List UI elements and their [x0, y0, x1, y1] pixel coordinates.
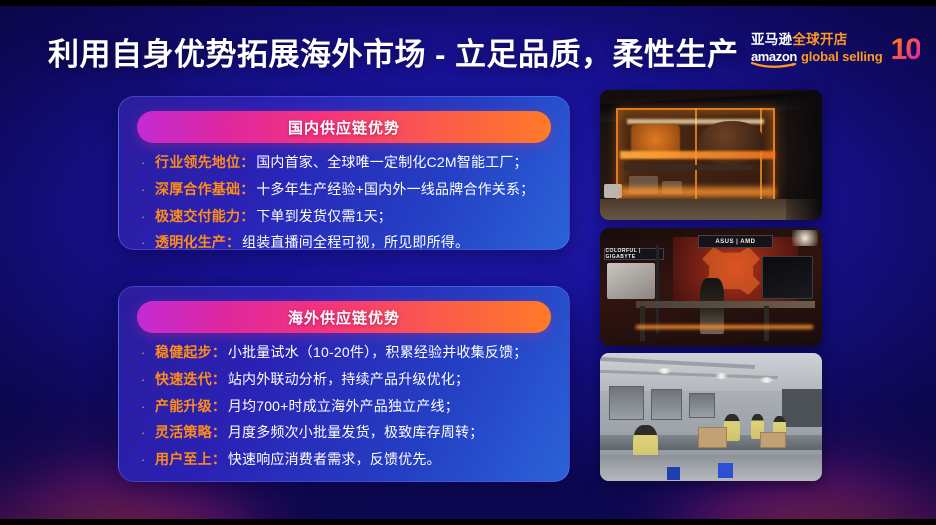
- amazon-smile-icon: [751, 62, 805, 68]
- overseas-supply-chain-card: 海外供应链优势 · 稳健起步 ： 小批量试水（10-20件），积累经验并收集反馈…: [118, 286, 570, 482]
- bullet-colon: ：: [212, 423, 226, 442]
- bullet-colon: ：: [212, 370, 226, 389]
- livestream-studio-photo-content: ASUS | AMD COLORFUL | GIGABYTE: [600, 228, 822, 346]
- bullet-dot-icon: ·: [141, 424, 155, 441]
- bullet-key: 用户至上: [155, 450, 212, 469]
- list-item: · 灵活策略 ： 月度多频次小批量发货，极致库存周转；: [141, 423, 555, 442]
- shelf-rack-shape: [651, 389, 682, 420]
- bullet-value: 组装直播间全程可视，所见即所得。: [242, 233, 469, 250]
- bullet-colon: ：: [212, 450, 226, 469]
- bullet-key: 产能升级: [155, 397, 212, 416]
- bullet-key: 快速迭代: [155, 370, 212, 389]
- desk-leg-shape: [764, 306, 769, 341]
- brand-chinese-global-selling: 全球开店: [792, 32, 847, 47]
- amazon-global-selling-logo: 亚马逊全球开店 amazon global selling 10: [751, 33, 920, 68]
- slide-canvas: 利用自身优势拓展海外市场 - 立足品质，柔性生产 亚马逊全球开店 amazon …: [0, 0, 936, 525]
- card-1-header-pill: 国内供应链优势: [137, 111, 551, 143]
- cardboard-box-shape: [698, 427, 727, 447]
- bullet-dot-icon: ·: [141, 344, 155, 361]
- bullet-key: 极速交付能力: [155, 207, 240, 226]
- slide-header: 利用自身优势拓展海外市场 - 立足品质，柔性生产 亚马逊全球开店 amazon …: [0, 20, 936, 82]
- floor-glow-shape: [620, 187, 775, 197]
- blue-bin-shape: [667, 467, 680, 480]
- factory-floor-photo-content: [600, 353, 822, 481]
- bullet-colon: ：: [212, 343, 226, 362]
- list-item: · 极速交付能力 ： 下单到发货仅需1天；: [141, 207, 555, 226]
- brand-chinese-line: 亚马逊全球开店: [751, 33, 883, 47]
- shelf-rack-shape: [689, 393, 716, 419]
- card-1-title: 国内供应链优势: [288, 117, 400, 138]
- list-item: · 透明化生产 ： 组装直播间全程可视，所见即所得。: [141, 233, 555, 250]
- desk-surface-shape: [636, 301, 816, 308]
- factory-floor-shape: [600, 455, 822, 481]
- bullet-dot-icon: ·: [141, 181, 155, 198]
- bullet-colon: ：: [212, 397, 226, 416]
- list-item: · 行业领先地位 ： 国内首家、全球唯一定制化C2M智能工厂；: [141, 153, 555, 172]
- list-item: · 产能升级 ： 月均700+时成立海外产品独立产线；: [141, 397, 555, 416]
- glass-showroom-photo-content: [600, 90, 822, 220]
- bullet-key: 灵活策略: [155, 423, 212, 442]
- list-item: · 深厚合作基础 ： 十多年生产经验+国内外一线品牌合作关系；: [141, 180, 555, 199]
- far-wall-shape: [782, 389, 822, 427]
- livestream-studio-photo: ASUS | AMD COLORFUL | GIGABYTE: [600, 228, 822, 346]
- bullet-dot-icon: ·: [141, 154, 155, 171]
- bullet-value: 月度多频次小批量发货，极致库存周转；: [228, 423, 484, 442]
- bullet-colon: ：: [240, 207, 254, 226]
- monitor-shape: [762, 256, 813, 298]
- blue-bin-shape: [718, 463, 734, 478]
- worker-shape: [724, 414, 740, 441]
- bullet-dot-icon: ·: [141, 208, 155, 225]
- card-2-bullet-list: · 稳健起步 ： 小批量试水（10-20件），积累经验并收集反馈； · 快速迭代…: [141, 343, 555, 477]
- bullet-colon: ：: [240, 153, 254, 172]
- top-letterbox-bar: [0, 0, 936, 6]
- page-title: 利用自身优势拓展海外市场 - 立足品质，柔性生产: [48, 29, 739, 74]
- brand-text-block: 亚马逊全球开店 amazon global selling: [751, 33, 883, 68]
- bullet-value: 小批量试水（10-20件），积累经验并收集反馈；: [228, 343, 528, 362]
- glass-showroom-photo: [600, 90, 822, 220]
- bullet-value: 月均700+时成立海外产品独立产线；: [228, 397, 459, 416]
- bullet-value: 国内首家、全球唯一定制化C2M智能工厂；: [256, 153, 528, 172]
- card-1-bullet-list: · 行业领先地位 ： 国内首家、全球唯一定制化C2M智能工厂； · 深厚合作基础…: [141, 153, 555, 250]
- domestic-supply-chain-card: 国内供应链优势 · 行业领先地位 ： 国内首家、全球唯一定制化C2M智能工厂； …: [118, 96, 570, 250]
- brand-chinese-amazon: 亚马逊: [751, 32, 792, 47]
- list-item: · 用户至上 ： 快速响应消费者需求，反馈优先。: [141, 450, 555, 469]
- list-item: · 快速迭代 ： 站内外联动分析，持续产品升级优化；: [141, 370, 555, 389]
- bottom-letterbox-bar: [0, 519, 936, 525]
- light-stand-shape: [656, 245, 659, 335]
- list-item: · 稳健起步 ： 小批量试水（10-20件），积累经验并收集反馈；: [141, 343, 555, 362]
- studio-light-icon: [792, 230, 818, 246]
- brand-global-selling-wordmark: global selling: [801, 50, 883, 63]
- dark-side-wall-shape: [786, 90, 822, 220]
- floor-led-shape: [636, 325, 814, 329]
- pc-rig-shape: [607, 263, 656, 298]
- card-2-header-pill: 海外供应链优势: [137, 301, 551, 333]
- card-2-title: 海外供应链优势: [288, 307, 400, 328]
- bullet-value: 站内外联动分析，持续产品升级优化；: [228, 370, 469, 389]
- brand-sign-right: ASUS | AMD: [698, 235, 773, 248]
- bullet-dot-icon: ·: [141, 451, 155, 468]
- bullet-dot-icon: ·: [141, 234, 155, 250]
- led-strip-shape: [620, 151, 775, 159]
- shelf-rack-shape: [609, 386, 645, 419]
- bullet-value: 下单到发货仅需1天；: [256, 207, 392, 226]
- bullet-colon: ：: [240, 180, 254, 199]
- factory-floor-photo: [600, 353, 822, 481]
- bullet-key: 行业领先地位: [155, 153, 240, 172]
- bullet-key: 深厚合作基础: [155, 180, 240, 199]
- cardboard-box-shape: [760, 432, 787, 447]
- bullet-key: 透明化生产: [155, 233, 226, 250]
- bullet-value: 十多年生产经验+国内外一线品牌合作关系；: [256, 180, 534, 199]
- bullet-colon: ：: [226, 233, 240, 250]
- desk-leg-shape: [640, 306, 645, 341]
- bullet-value: 快速响应消费者需求，反馈优先。: [228, 450, 441, 469]
- workbench-shape: [624, 165, 753, 170]
- anniversary-10-icon: 10: [891, 35, 920, 65]
- bullet-dot-icon: ·: [141, 371, 155, 388]
- bullet-dot-icon: ·: [141, 398, 155, 415]
- bullet-key: 稳健起步: [155, 343, 212, 362]
